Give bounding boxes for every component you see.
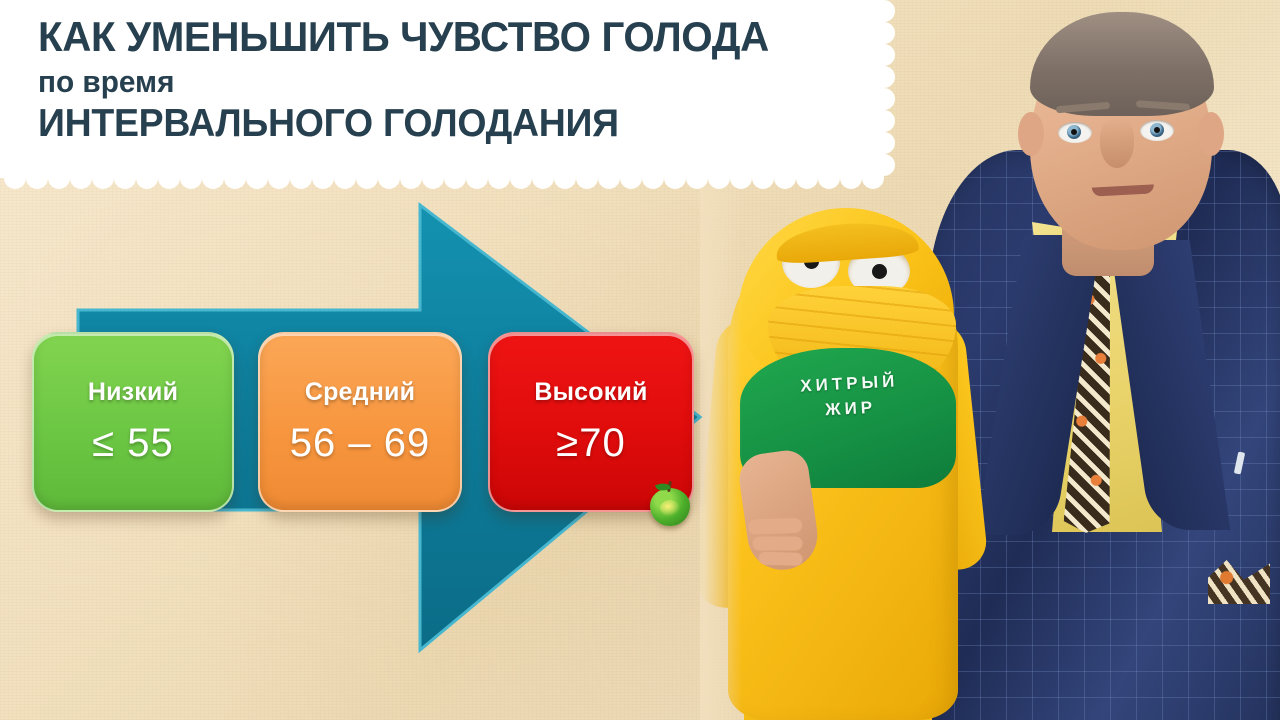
level-box-low[interactable]: Низкий ≤ 55 [32,332,234,512]
level-label-low: Низкий [88,378,178,407]
man-iris-left [1067,125,1081,139]
title-line-2: по время [38,63,864,102]
toy-pupil-right [872,264,887,279]
man-ear-left [1018,112,1044,156]
man-eye-left [1058,122,1092,143]
page-title: КАК УМЕНЬШИТЬ ЧУВСТВО ГОЛОДА по время ИН… [38,16,898,145]
man-nose [1100,118,1134,168]
man-ear-right [1198,112,1224,156]
man-iris-right [1150,123,1164,137]
level-box-medium[interactable]: Средний 56 – 69 [258,332,462,512]
title-line-3: ИНТЕРВАЛЬНОГО ГОЛОДАНИЯ [38,103,864,146]
man-finger-1 [748,518,802,535]
apple-highlight [660,500,680,516]
title-line-1: КАК УМЕНЬШИТЬ ЧУВСТВО ГОЛОДА [38,16,864,59]
level-value-medium: 56 – 69 [290,421,430,466]
level-value-high: ≥70 [556,421,625,466]
man-eye-right [1140,120,1174,141]
level-value-low: ≤ 55 [92,421,174,466]
title-panel: КАК УМЕНЬШИТЬ ЧУВСТВО ГОЛОДА по время ИН… [0,0,902,196]
man-finger-3 [758,551,802,566]
slide-canvas: ХИТРЫЙ ЖИР Низкий ≤ 55 Средний 56 – 69 [0,0,1280,720]
man-finger-2 [753,537,803,551]
man-pupil-right [1154,127,1160,133]
level-label-high: Высокий [534,378,647,407]
man-pupil-left [1071,129,1077,135]
man-hair [1030,12,1214,116]
level-label-medium: Средний [305,378,415,407]
toy-shirt-caption: ХИТРЫЙ ЖИР [759,367,941,426]
